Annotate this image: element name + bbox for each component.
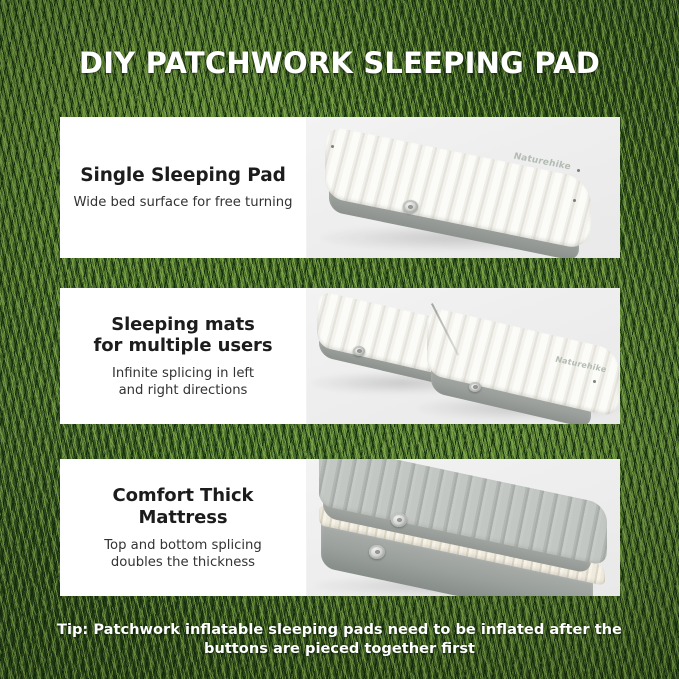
panel-image-single-pad: Naturehike <box>306 117 620 258</box>
inflation-valve <box>403 200 418 213</box>
inflation-valve <box>369 545 385 559</box>
panel-text-block: Comfort Thick Mattress Top and bottom sp… <box>60 459 306 596</box>
panel-text-block: Sleeping mats for multiple users Infinit… <box>60 288 306 424</box>
corner-grommet <box>573 199 576 202</box>
panel-heading: Sleeping mats for multiple users <box>94 314 273 356</box>
panel-heading: Comfort Thick Mattress <box>66 485 300 529</box>
panel-heading: Single Sleeping Pad <box>80 165 286 187</box>
inflation-valve <box>353 346 365 356</box>
inflation-valve <box>469 382 481 392</box>
page-title: DIY PATCHWORK SLEEPING PAD <box>0 46 679 80</box>
feature-panel-single-pad: Single Sleeping Pad Wide bed surface for… <box>60 117 620 258</box>
tip-footer: Tip: Patchwork inflatable sleeping pads … <box>0 620 679 658</box>
corner-grommet <box>577 169 580 172</box>
panel-text-block: Single Sleeping Pad Wide bed surface for… <box>60 117 306 258</box>
inflation-valve <box>391 513 407 527</box>
corner-grommet <box>331 145 334 148</box>
panel-subtitle: Wide bed surface for free turning <box>73 194 292 211</box>
panel-subtitle: Infinite splicing in left and right dire… <box>112 365 254 399</box>
feature-panel-multi-mats: Sleeping mats for multiple users Infinit… <box>60 288 620 424</box>
panel-image-spliced-mats: Naturehike Naturehike <box>306 288 620 424</box>
panel-image-stacked-mattress <box>306 459 620 596</box>
infographic-canvas: DIY PATCHWORK SLEEPING PAD Single Sleepi… <box>0 0 679 679</box>
panel-subtitle: Top and bottom splicing doubles the thic… <box>104 537 262 571</box>
corner-grommet <box>593 380 596 383</box>
feature-panel-thick-mattress: Comfort Thick Mattress Top and bottom sp… <box>60 459 620 596</box>
